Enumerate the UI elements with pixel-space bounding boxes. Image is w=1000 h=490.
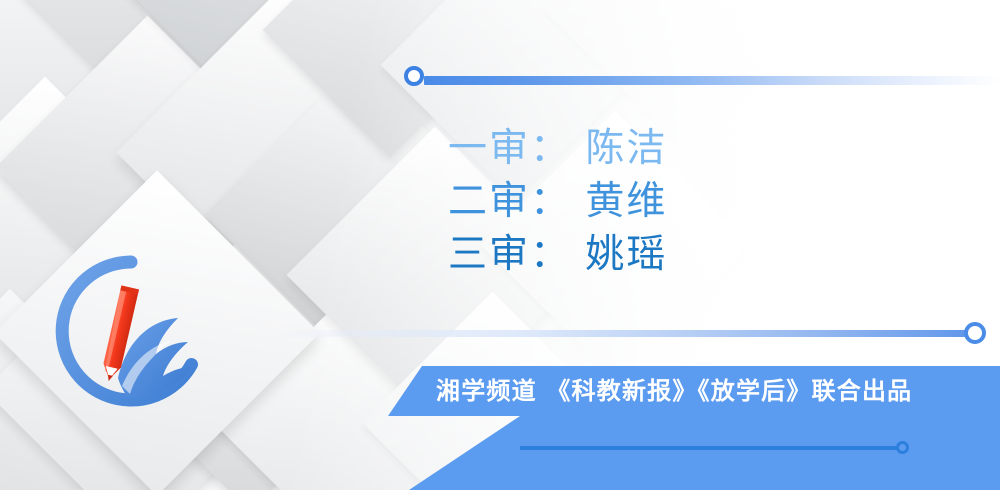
- credits-block: 一审： 陈洁 二审： 黄维 三审： 姚瑶: [448, 122, 968, 281]
- producer-banner-text: 湘学频道 《科教新报》《放学后》联合出品: [436, 366, 912, 416]
- channel-logo: [46, 246, 216, 416]
- mid-connector-dot: [964, 322, 986, 344]
- top-connector-line: [424, 76, 1000, 85]
- logo-icon: [46, 246, 216, 416]
- bottom-accent-dot: [896, 441, 909, 454]
- credit-line-first-review: 一审： 陈洁: [448, 122, 968, 175]
- producer-banner: 湘学频道 《科教新报》《放学后》联合出品: [388, 366, 1000, 416]
- bottom-accent-line: [520, 446, 904, 450]
- mid-connector-line: [272, 330, 972, 337]
- credit-line-second-review: 二审： 黄维: [448, 175, 968, 228]
- credit-line-third-review: 三审： 姚瑶: [448, 228, 968, 281]
- top-connector-dot: [404, 66, 424, 86]
- credit-slide: 一审： 陈洁 二审： 黄维 三审： 姚瑶 湘学频道 《科教新报》《放学后》联合出…: [0, 0, 1000, 490]
